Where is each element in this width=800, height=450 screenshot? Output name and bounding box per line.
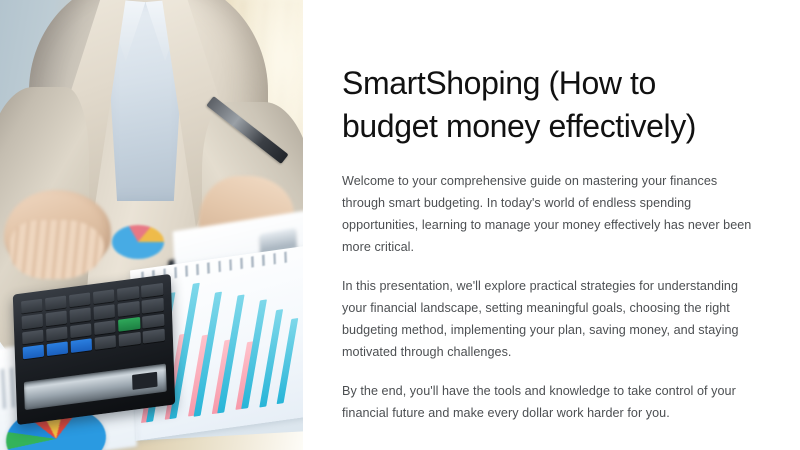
- calculator-key: [22, 313, 44, 328]
- calculator-key: [142, 298, 164, 313]
- calculator-key: [94, 304, 116, 319]
- calculator-key: [46, 325, 68, 340]
- calculator-key-blue: [71, 338, 93, 353]
- slide-body: Welcome to your comprehensive guide on m…: [342, 170, 754, 424]
- hero-photo: [0, 0, 303, 450]
- pie-chart-small: [112, 225, 164, 259]
- content-panel: SmartShoping (How to budget money effect…: [303, 0, 800, 450]
- calculator-key: [117, 285, 139, 300]
- calculator-key-blue: [23, 344, 45, 359]
- calculator-key: [21, 298, 43, 313]
- calculator-key: [70, 322, 92, 337]
- calculator-key: [46, 310, 68, 325]
- chart-bar: [277, 318, 299, 404]
- calculator-key: [45, 295, 67, 310]
- calculator-keypad: [21, 282, 165, 373]
- slide-title: SmartShoping (How to budget money effect…: [342, 62, 742, 148]
- calculator-key-blue: [47, 341, 69, 356]
- calculator-key: [143, 328, 165, 343]
- left-hand-fingers: [10, 220, 105, 279]
- calculator: [13, 273, 175, 424]
- calculator-key: [143, 313, 165, 328]
- calculator-key: [69, 292, 91, 307]
- calculator-key: [141, 282, 163, 297]
- slide: SmartShoping (How to budget money effect…: [0, 0, 800, 450]
- calculator-key: [94, 319, 116, 334]
- calculator-key: [119, 331, 141, 346]
- calculator-key: [70, 307, 92, 322]
- body-paragraph: Welcome to your comprehensive guide on m…: [342, 170, 754, 258]
- body-paragraph: In this presentation, we'll explore prac…: [342, 275, 754, 363]
- body-paragraph: By the end, you'll have the tools and kn…: [342, 380, 754, 424]
- calculator-key: [22, 329, 44, 344]
- calculator-key: [118, 301, 140, 316]
- calculator-key: [93, 289, 115, 304]
- calculator-key: [95, 334, 117, 349]
- hero-image-panel: [0, 0, 303, 450]
- calculator-key-green: [118, 316, 140, 331]
